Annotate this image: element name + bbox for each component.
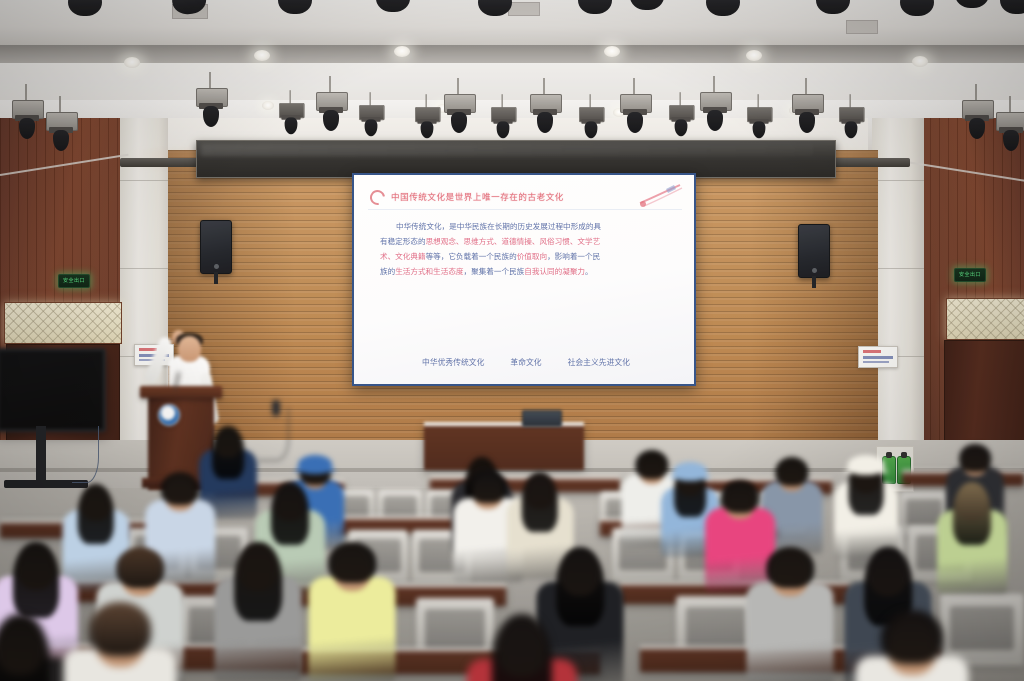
ceiling-vent xyxy=(508,2,540,16)
stage-spotlight xyxy=(792,94,822,124)
stage-spotlight xyxy=(415,107,439,131)
attendee-torso xyxy=(309,577,396,681)
stage-spotlight xyxy=(359,105,383,129)
slide-footer-item: 中华优秀传统文化 xyxy=(422,357,484,368)
attendee-hair xyxy=(0,614,49,681)
lattice-window-right xyxy=(946,298,1024,340)
stage-spotlight xyxy=(747,107,771,131)
attendee-hair xyxy=(78,484,114,544)
ceiling-downlight xyxy=(394,46,410,57)
stage-spotlight xyxy=(620,94,650,124)
attendee-hair xyxy=(234,542,282,621)
attendee-hair xyxy=(13,542,59,618)
slide-plain-text: 。 xyxy=(585,267,593,276)
slide-footer-items: 中华优秀传统文化革命文化社会主义先进文化 xyxy=(380,357,672,368)
exit-sign-right-text: 安全出口 xyxy=(959,273,981,278)
flat-panel-display[interactable] xyxy=(0,348,106,432)
stage-spotlight xyxy=(669,105,693,129)
presentation-slide: 中国传统文化是世界上唯一存在的古老文化 中华传统文化，是中华民族在长期的历史发展… xyxy=(354,175,694,384)
ceiling-downlight xyxy=(124,57,140,68)
stage-spotlight xyxy=(196,88,226,118)
attendee-hair xyxy=(881,610,943,664)
stage-spotlight xyxy=(962,100,992,130)
slide-body-line: 术、文化典籍等等，它负载着一个民族的价值取向，影响着一个民 xyxy=(380,249,672,264)
stage-spotlight xyxy=(444,94,474,124)
podium-top xyxy=(140,386,222,398)
table-monitor xyxy=(522,410,562,427)
stage-spotlight xyxy=(579,107,603,131)
wall-speaker-left xyxy=(200,220,232,274)
attendee-cap xyxy=(673,462,707,481)
slide-title: 中国传统文化是世界上唯一存在的古老文化 xyxy=(391,191,564,203)
attendee-front-red-strap xyxy=(467,612,577,681)
display-cable xyxy=(72,426,99,483)
ceiling-downlight xyxy=(254,50,270,61)
stage-spotlight xyxy=(839,107,863,131)
slide-divider xyxy=(368,209,682,210)
attendee-hair xyxy=(469,470,507,503)
attendee-grey-tee xyxy=(215,540,302,681)
attendee-hair xyxy=(775,457,808,486)
attendee-front-white-tee xyxy=(855,608,968,681)
exit-sign-right: 安全出口 xyxy=(954,268,986,282)
right-pillar xyxy=(872,118,924,478)
attendee-front-lightbrown xyxy=(63,600,176,681)
slide-plain-text: 等等，它负载着一个民族的 xyxy=(426,252,517,261)
presenter-head xyxy=(178,336,201,362)
ceiling-downlight xyxy=(746,50,762,61)
attendee-hair xyxy=(953,482,991,545)
attendee-torso xyxy=(747,582,834,681)
slide-body-text: 中华传统文化，是中华民族在长期的历史发展过程中形成的具有稳定形态的思想观念、思维… xyxy=(380,219,672,279)
attendee-grey-knit xyxy=(747,545,834,681)
stage-spotlight xyxy=(996,112,1024,142)
slide-plain-text: 族的 xyxy=(380,267,395,276)
attendee-hair xyxy=(161,472,199,505)
projection-screen[interactable]: 中国传统文化是世界上唯一存在的古老文化 中华传统文化，是中华民族在长期的历史发展… xyxy=(352,173,696,386)
ceiling-downlight xyxy=(604,46,620,57)
slide-body-line: 有稳定形态的思想观念、思维方式、道德情操、风俗习惯、文学艺 xyxy=(380,234,672,249)
exit-sign-left: 安全出口 xyxy=(58,274,90,288)
slide-plain-text: 有稳定形态的 xyxy=(380,237,426,246)
attendee-cap xyxy=(298,455,332,474)
attendee-green-top xyxy=(937,480,1007,600)
attendee-hair xyxy=(328,542,376,583)
stage-spotlight xyxy=(12,100,42,130)
attendee-cap xyxy=(847,455,884,475)
attendee-yellow-top xyxy=(309,540,396,681)
stage-spotlight xyxy=(700,92,730,122)
slide-plain-text: 中华传统文化，是中华民族在长期的历史发展过程中形成的具 xyxy=(396,222,601,231)
attendee-hair xyxy=(271,482,309,545)
stage-spotlight xyxy=(530,94,560,124)
slide-footer-item: 社会主义先进文化 xyxy=(568,357,630,368)
stage-spotlight xyxy=(316,92,346,122)
ceiling-downlight xyxy=(262,101,274,110)
attendee-hair xyxy=(116,547,164,588)
ceiling-downlight xyxy=(912,56,928,67)
slide-highlight-text: 术、文化典籍 xyxy=(380,252,426,261)
attendee-hair xyxy=(721,480,759,513)
stage-spotlight xyxy=(491,107,515,131)
slide-highlight-text: 思想观念、思维方式、道德情操、风俗习惯、文学艺 xyxy=(426,237,601,246)
attendee-hair xyxy=(212,426,244,479)
attendee-hair xyxy=(492,614,552,681)
attendee-hair xyxy=(89,602,151,656)
swirl-icon xyxy=(367,187,388,208)
slide-title-row: 中国传统文化是世界上唯一存在的古老文化 xyxy=(370,187,680,207)
attendee-hair xyxy=(766,547,814,588)
podium-emblem-icon xyxy=(158,404,180,426)
lattice-window-left xyxy=(4,302,122,344)
slide-body-line: 族的生活方式和生活态度，聚集着一个民族自我认同的凝聚力。 xyxy=(380,264,672,279)
presenter-remote xyxy=(272,400,280,416)
attendee-hair xyxy=(959,444,991,472)
slide-highlight-text: 自我认同的凝聚力 xyxy=(524,267,585,276)
wall-speaker-right xyxy=(798,224,830,278)
slide-plain-text: ，影响着一个民 xyxy=(547,252,600,261)
slide-highlight-text: 生活方式和生活态度 xyxy=(395,267,463,276)
slide-highlight-text: 价值取向 xyxy=(517,252,547,261)
ceiling-vent xyxy=(846,20,878,34)
slide-footer-item: 革命文化 xyxy=(510,357,541,368)
ceiling-beam xyxy=(0,45,1024,63)
stage-spotlight xyxy=(46,112,76,142)
slide-plain-text: ，聚集着一个民族 xyxy=(464,267,525,276)
wall-placard-right xyxy=(858,346,898,368)
cap-brim xyxy=(294,468,336,473)
attendee-hair xyxy=(522,472,558,532)
lecture-hall-photo: 中国传统文化是世界上唯一存在的古老文化 中华传统文化，是中华民族在长期的历史发展… xyxy=(0,0,1024,681)
display-stand xyxy=(36,426,46,488)
stage-spotlight xyxy=(279,103,303,127)
exit-sign-left-text: 安全出口 xyxy=(63,279,85,284)
brush-stroke-graphic xyxy=(636,183,684,209)
slide-body-line: 中华传统文化，是中华民族在长期的历史发展过程中形成的具 xyxy=(380,219,672,234)
